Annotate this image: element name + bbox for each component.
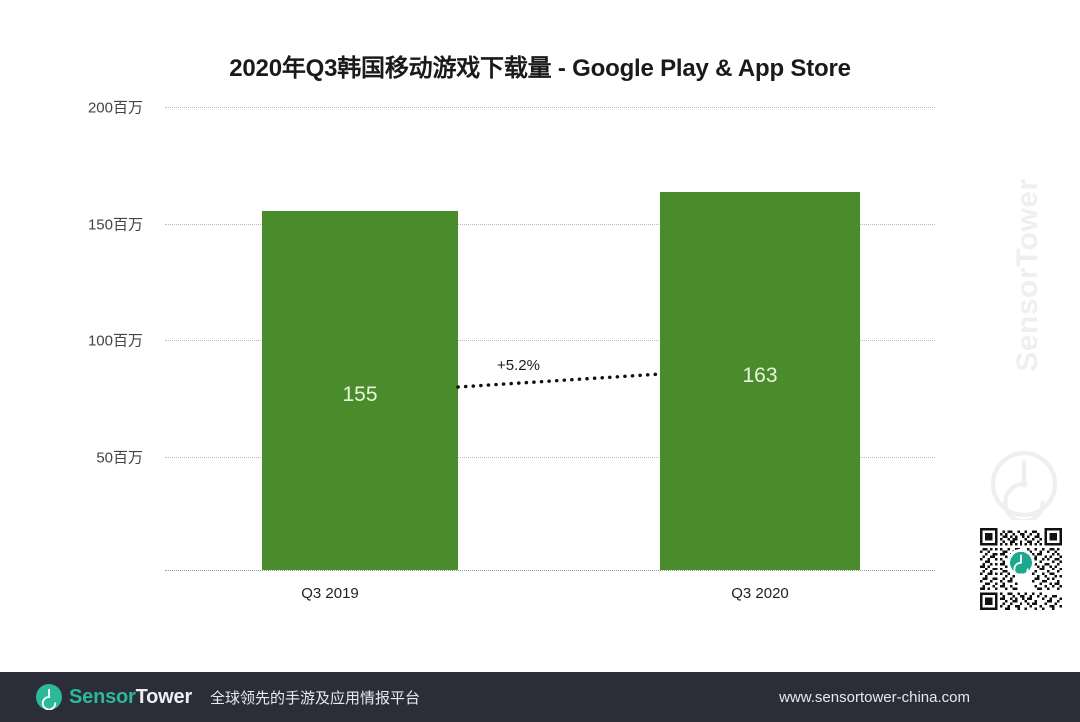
footer-wordmark: SensorTower [69,686,192,709]
bar-q3-2020[interactable]: 163 [660,192,860,570]
footer-tagline: 全球领先的手游及应用情报平台 [210,687,420,708]
gridline-200 [165,107,935,108]
footer-wordmark-sensor: Sensor [69,686,136,708]
qr-code-icon[interactable] [980,528,1062,610]
growth-rate-label: +5.2% [497,357,540,374]
sensortower-logo-icon [988,448,1060,520]
axis-baseline-0 [165,570,935,571]
bar-q3-2019[interactable]: 155 [262,211,458,570]
chart-title: 2020年Q3韩国移动游戏下载量 - Google Play & App Sto… [0,48,1080,83]
chart-canvas: 2020年Q3韩国移动游戏下载量 - Google Play & App Sto… [0,0,1080,672]
y-tick-label-200: 200百万 [88,97,143,118]
watermark: SensorTower [976,150,1066,520]
sensortower-logo-icon [36,684,62,710]
watermark-text: SensorTower [1011,145,1045,405]
y-axis: 200百万 150百万 100百万 50百万 [0,107,155,570]
footer-logo-group[interactable]: SensorTower [36,684,192,710]
plot-area: 155 163 [165,107,935,570]
x-tick-label-q3-2019: Q3 2019 [200,585,460,602]
footer-wordmark-tower: Tower [136,686,192,708]
footer-bar: SensorTower 全球领先的手游及应用情报平台 www.sensortow… [0,672,1080,722]
bar-value-q3-2019: 155 [262,383,458,407]
x-tick-label-q3-2020: Q3 2020 [630,585,890,602]
footer-url[interactable]: www.sensortower-china.com [779,689,970,706]
bar-value-q3-2020: 163 [660,364,860,388]
y-tick-label-100: 100百万 [88,330,143,351]
y-tick-label-50: 50百万 [96,447,143,468]
y-tick-label-150: 150百万 [88,214,143,235]
